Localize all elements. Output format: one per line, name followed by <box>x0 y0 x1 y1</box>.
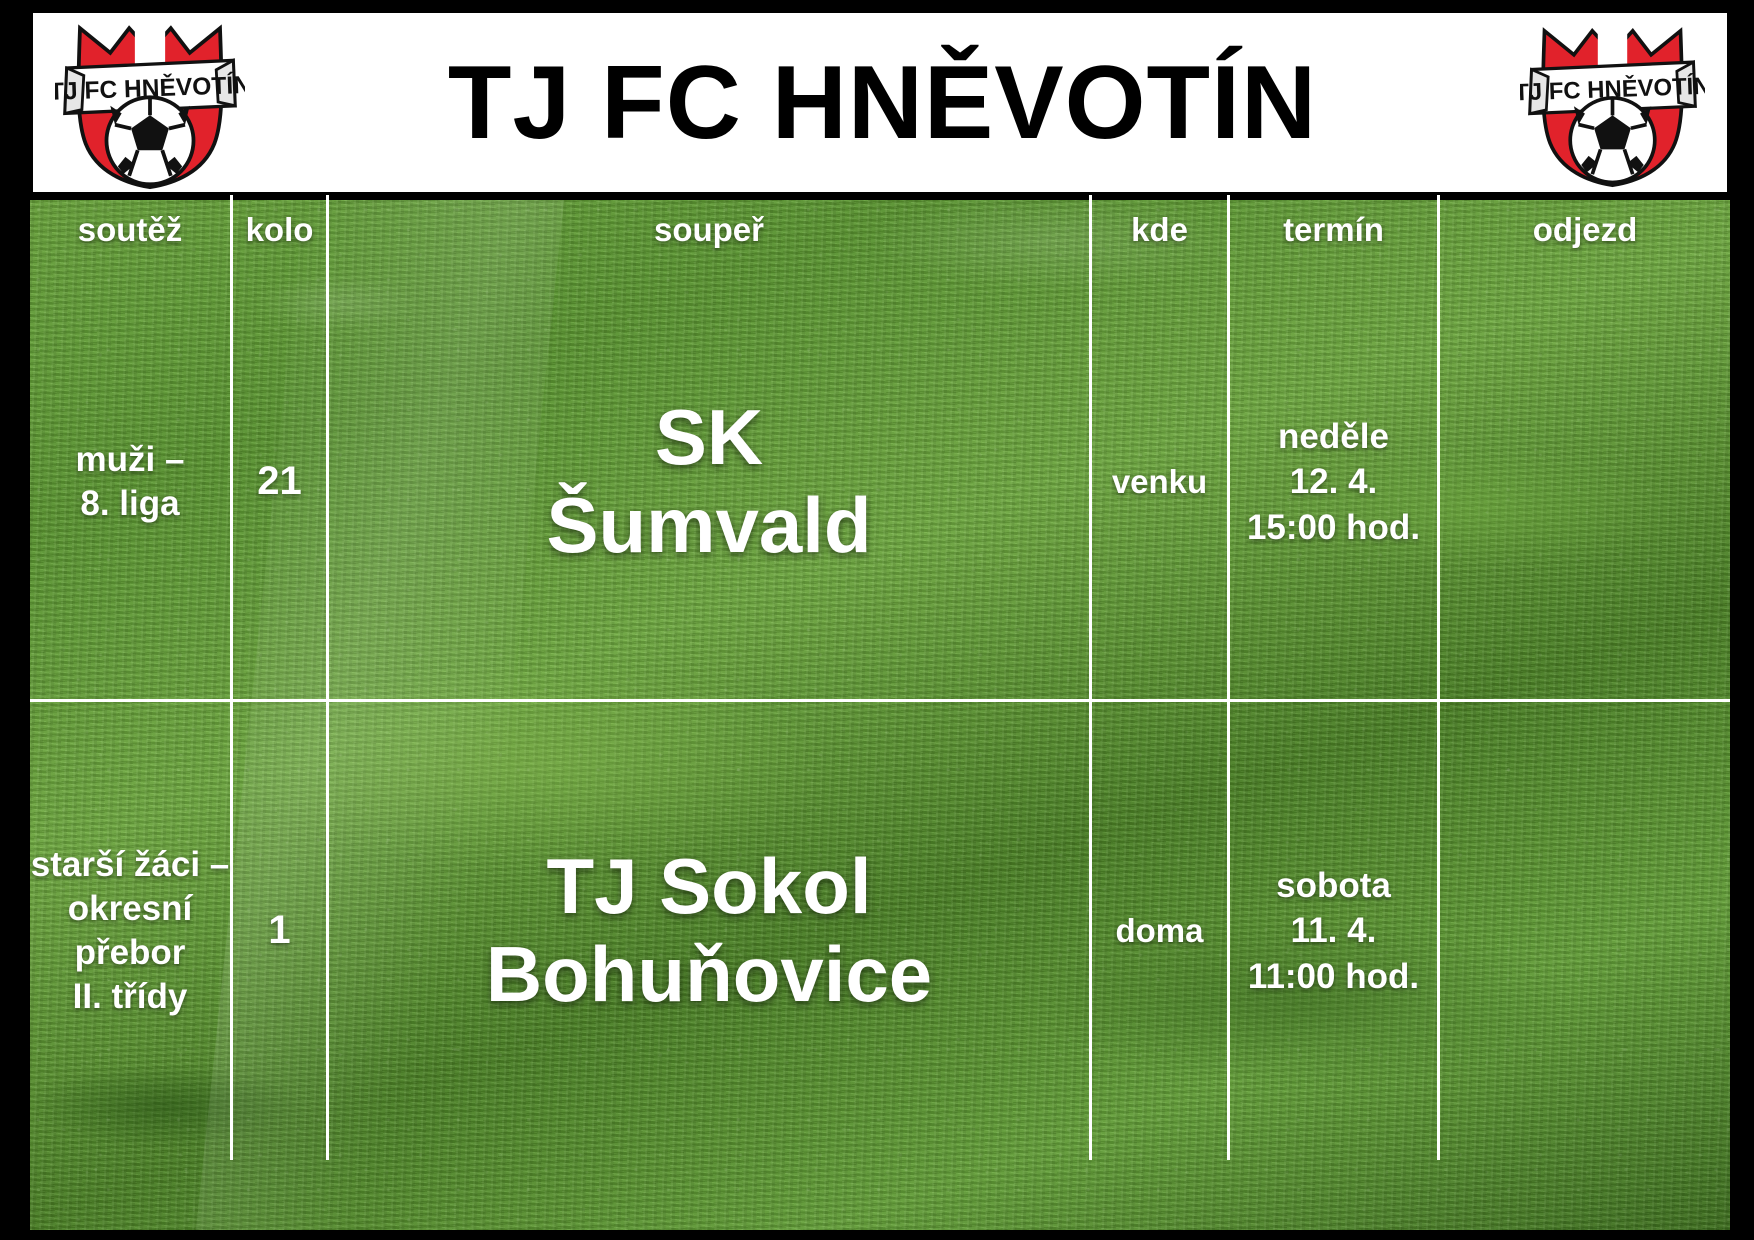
cell-kolo: 1 <box>232 700 328 1160</box>
opponent-line: Šumvald <box>329 482 1089 569</box>
termin-line: 12. 4. <box>1230 459 1437 505</box>
cell-souper: SK Šumvald <box>328 265 1091 700</box>
column-header-odjezd: odjezd <box>1439 195 1731 265</box>
soutez-line: přebor <box>30 931 230 975</box>
table-header: soutěž kolo soupeř kde termín odjezd <box>30 195 1730 265</box>
termin-line: 15:00 hod. <box>1230 505 1437 551</box>
fixtures-table: soutěž kolo soupeř kde termín odjezd muž… <box>30 195 1730 1160</box>
cell-termin: sobota 11. 4. 11:00 hod. <box>1229 700 1439 1160</box>
cell-kde: venku <box>1091 265 1229 700</box>
club-logo-left: TJ FC HNĚVOTÍN <box>55 15 245 190</box>
opponent-line: Bohuňovice <box>329 931 1089 1018</box>
column-header-souper: soupeř <box>328 195 1091 265</box>
termin-line: 11:00 hod. <box>1230 954 1437 1000</box>
cell-kolo: 21 <box>232 265 328 700</box>
column-header-soutez: soutěž <box>30 195 232 265</box>
soutez-line: 8. liga <box>30 482 230 526</box>
cell-termin: neděle 12. 4. 15:00 hod. <box>1229 265 1439 700</box>
cell-soutez: starší žáci – okresní přebor II. třídy <box>30 700 232 1160</box>
club-logo-right: TJ FC HNĚVOTÍN <box>1520 18 1705 188</box>
soutez-line: muži – <box>30 438 230 482</box>
soutez-line: II. třídy <box>30 975 230 1019</box>
termin-line: sobota <box>1230 863 1437 909</box>
table-body: muži – 8. liga 21 SK Šumvald venku neděl… <box>30 265 1730 1160</box>
match-schedule-poster: TJ FC HNĚVOTÍN TJ FC HNĚ <box>0 0 1754 1240</box>
table-row: muži – 8. liga 21 SK Šumvald venku neděl… <box>30 265 1730 700</box>
column-header-termin: termín <box>1229 195 1439 265</box>
soutez-line: okresní <box>30 887 230 931</box>
table-row: starší žáci – okresní přebor II. třídy 1… <box>30 700 1730 1160</box>
poster-header: TJ FC HNĚVOTÍN TJ FC HNĚ <box>30 10 1730 195</box>
cell-kde: doma <box>1091 700 1229 1160</box>
cell-souper: TJ Sokol Bohuňovice <box>328 700 1091 1160</box>
termin-line: neděle <box>1230 414 1437 460</box>
cell-odjezd <box>1439 265 1731 700</box>
column-header-kolo: kolo <box>232 195 328 265</box>
opponent-line: TJ Sokol <box>329 843 1089 930</box>
page-title: TJ FC HNĚVOTÍN <box>245 51 1520 155</box>
cell-odjezd <box>1439 700 1731 1160</box>
termin-line: 11. 4. <box>1230 908 1437 954</box>
cell-soutez: muži – 8. liga <box>30 265 232 700</box>
opponent-line: SK <box>329 394 1089 481</box>
soutez-line: starší žáci – <box>30 843 230 887</box>
table-header-row: soutěž kolo soupeř kde termín odjezd <box>30 195 1730 265</box>
column-header-kde: kde <box>1091 195 1229 265</box>
